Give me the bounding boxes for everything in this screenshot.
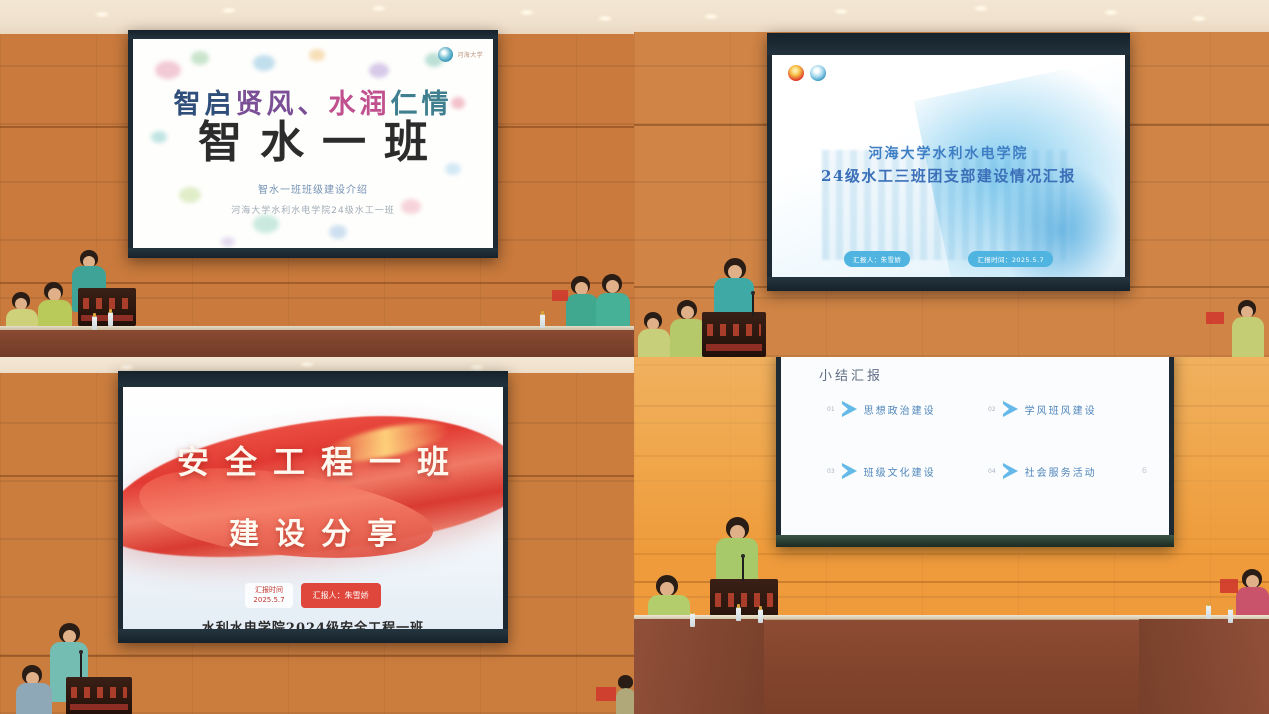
- water-bottle: [1228, 609, 1233, 623]
- nameplate: [1206, 312, 1224, 324]
- slide2-logos: [788, 65, 826, 81]
- date-badge: 汇报时间 2025.5.7: [245, 583, 292, 608]
- water-bottle: [108, 312, 113, 326]
- screen-bottom-bar: [128, 248, 498, 258]
- bullet-item[interactable]: 02 学风班风建设: [988, 401, 1129, 417]
- person-seated: [1232, 300, 1264, 357]
- screen-bottom-bar: [118, 629, 508, 643]
- ceiling-light-icon: [1192, 16, 1206, 21]
- ceiling-light-icon: [300, 362, 314, 367]
- panel-bottom-right[interactable]: 小结汇报 01 思想政治建设 02 学风班风建设: [634, 357, 1269, 714]
- presenter-badge: 汇报人：朱雪娇: [301, 583, 381, 608]
- person-seated: [616, 675, 634, 714]
- panel-top-right[interactable]: 河海大学水利水电学院 24级水工三班团支部建设情况汇报 汇报人：朱雪娇 汇报时间…: [634, 0, 1269, 357]
- ceiling-light-icon: [120, 365, 134, 370]
- video-grid: 河海大学 智启贤风、水润仁情 智水一班 智水一班班级建设介绍 河海大学水利水电学…: [0, 0, 1269, 714]
- slide2-badges: 汇报人：朱雪娇 汇报时间：2025.5.7: [772, 251, 1125, 267]
- slide1-logo: 河海大学: [438, 47, 483, 62]
- water-bottle: [540, 314, 545, 328]
- bullet-label: 社会服务活动: [1025, 464, 1097, 479]
- person-seated: [638, 312, 670, 357]
- youth-league-emblem-icon: [788, 65, 804, 81]
- ceiling-light-icon: [1104, 10, 1118, 15]
- slide3-badges: 汇报时间 2025.5.7 汇报人：朱雪娇: [123, 583, 503, 608]
- slide4-title: 小结汇报: [819, 365, 883, 384]
- bullet-number: 03: [827, 468, 835, 475]
- wall-seam: [0, 655, 634, 657]
- table-left-wing: [634, 619, 764, 714]
- university-logo-icon: [810, 65, 826, 81]
- podium-label: [83, 298, 132, 309]
- arrow-icon: [842, 401, 857, 417]
- slide2-title-line1: 河海大学水利水电学院: [772, 143, 1125, 163]
- water-bottle: [92, 316, 97, 330]
- podium: [66, 677, 132, 714]
- slide1-logo-text: 河海大学: [457, 50, 483, 59]
- podium-strip: [706, 344, 762, 350]
- slide3-footer: 水利水电学院2024级安全工程一班: [123, 617, 503, 629]
- nameplate: [1220, 579, 1238, 593]
- water-bottle: [690, 613, 695, 627]
- podium-strip: [81, 315, 132, 320]
- ceiling-light-icon: [834, 9, 848, 14]
- ceiling-light-icon: [372, 6, 386, 11]
- water-bottle: [758, 609, 763, 623]
- ceiling-light-icon: [974, 6, 988, 11]
- person-seated: [16, 665, 52, 714]
- water-bottle: [736, 607, 741, 621]
- projected-slide-1[interactable]: 河海大学 智启贤风、水润仁情 智水一班 智水一班班级建设介绍 河海大学水利水电学…: [133, 39, 493, 248]
- slide1-headline: 智启贤风、水润仁情: [133, 91, 493, 118]
- presenter-badge: 汇报人：朱雪娇: [844, 251, 910, 267]
- ceiling-light-icon: [598, 16, 612, 21]
- water-bottle: [1206, 605, 1211, 619]
- screen-top-bar: [767, 33, 1130, 55]
- arrow-icon: [1003, 401, 1018, 417]
- screen-bottom-bar: [776, 535, 1174, 547]
- arrow-icon: [842, 463, 857, 479]
- bullet-number: 01: [827, 406, 835, 413]
- projected-slide-4[interactable]: 小结汇报 01 思想政治建设 02 学风班风建设: [781, 357, 1169, 535]
- date-badge-value: 2025.5.7: [253, 596, 284, 605]
- ceiling-light-icon: [95, 12, 109, 17]
- projector-screen-frame: 河海大学水利水电学院 24级水工三班团支部建设情况汇报 汇报人：朱雪娇 汇报时间…: [767, 33, 1130, 291]
- podium: [702, 312, 766, 357]
- screen-bottom-bar: [767, 277, 1130, 291]
- person-seated: [670, 300, 706, 356]
- panel-top-left[interactable]: 河海大学 智启贤风、水润仁情 智水一班 智水一班班级建设介绍 河海大学水利水电学…: [0, 0, 634, 357]
- nameplate: [596, 687, 616, 701]
- nameplate: [552, 290, 568, 301]
- slide4-bullet-grid: 01 思想政治建设 02 学风班风建设 03 班级文化建设: [827, 401, 1129, 479]
- slide1-subtitle: 智水一班班级建设介绍: [133, 181, 493, 196]
- bullet-item[interactable]: 04 社会服务活动: [988, 463, 1129, 479]
- panel-bottom-left[interactable]: 安全工程一班 建设分享 汇报时间 2025.5.7 汇报人：朱雪娇 水利水电学院…: [0, 357, 634, 714]
- podium: [78, 288, 136, 326]
- microphone-icon: [80, 653, 82, 677]
- podium-label: [71, 687, 126, 698]
- table-right-wing: [1139, 619, 1269, 714]
- arrow-icon: [1003, 463, 1018, 479]
- microphone-icon: [752, 294, 754, 316]
- podium-label: [715, 593, 772, 608]
- date-badge-label: 汇报时间: [253, 586, 284, 595]
- ceiling-light-icon: [520, 10, 534, 15]
- projector-screen-frame: 安全工程一班 建设分享 汇报时间 2025.5.7 汇报人：朱雪娇 水利水电学院…: [118, 371, 508, 643]
- slide2-title-line2: 24级水工三班团支部建设情况汇报: [772, 165, 1125, 186]
- slide3-title-line1: 安全工程一班: [123, 437, 503, 483]
- university-logo-icon: [438, 47, 453, 62]
- ceiling-light-icon: [704, 14, 718, 19]
- projector-screen-frame: 小结汇报 01 思想政治建设 02 学风班风建设: [776, 357, 1174, 547]
- ceiling-light-icon: [470, 365, 484, 370]
- bullet-number: 02: [988, 406, 996, 413]
- projector-screen-frame: 河海大学 智启贤风、水润仁情 智水一班 智水一班班级建设介绍 河海大学水利水电学…: [128, 30, 498, 258]
- projected-slide-2[interactable]: 河海大学水利水电学院 24级水工三班团支部建设情况汇报 汇报人：朱雪娇 汇报时间…: [772, 55, 1125, 277]
- slide-page-number: 6: [1142, 466, 1147, 475]
- screen-top-bar: [118, 371, 508, 387]
- screen-top-bar: [128, 30, 498, 39]
- bullet-number: 04: [988, 468, 996, 475]
- bullet-item[interactable]: 01 思想政治建设: [827, 401, 968, 417]
- bullet-label: 学风班风建设: [1025, 402, 1097, 417]
- slide1-big-title: 智水一班: [133, 121, 493, 165]
- date-badge: 汇报时间：2025.5.7: [968, 251, 1053, 267]
- ceiling-light-icon: [222, 8, 236, 13]
- bullet-label: 班级文化建设: [864, 464, 936, 479]
- podium-strip: [70, 704, 128, 709]
- podium-label: [707, 324, 761, 337]
- bullet-label: 思想政治建设: [864, 402, 936, 417]
- bullet-item[interactable]: 03 班级文化建设: [827, 463, 968, 479]
- slide1-subtitle-secondary: 河海大学水利水电学院24级水工一班: [133, 203, 493, 216]
- projected-slide-3[interactable]: 安全工程一班 建设分享 汇报时间 2025.5.7 汇报人：朱雪娇 水利水电学院…: [123, 387, 503, 629]
- conference-table: [0, 326, 634, 357]
- slide3-title-line2: 建设分享: [123, 509, 503, 553]
- microphone-icon: [742, 557, 744, 581]
